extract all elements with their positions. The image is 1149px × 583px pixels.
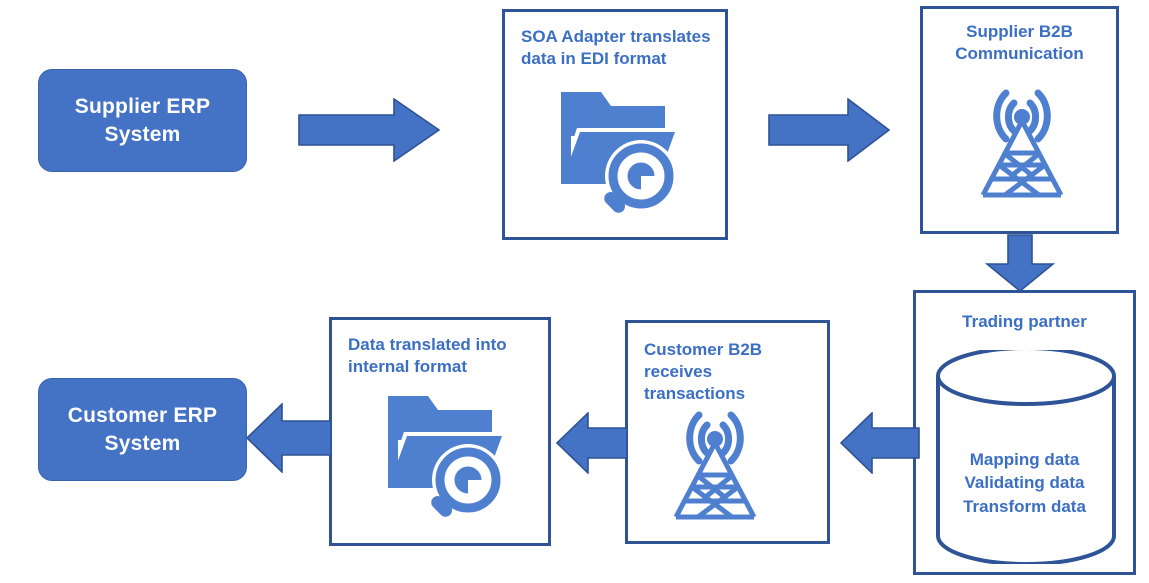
trading-partner-title: Trading partner xyxy=(916,311,1133,333)
trading-partner-item-validating: Validating data xyxy=(916,471,1133,494)
supplier-erp-line2: System xyxy=(75,121,210,149)
customer-erp-line1: Customer ERP xyxy=(68,402,217,430)
soa-adapter-title: SOA Adapter translates data in EDI forma… xyxy=(505,26,725,70)
customer-b2b-line1: Customer B2B xyxy=(644,339,817,361)
node-supplier-erp-system[interactable]: Supplier ERP System xyxy=(38,69,247,172)
soa-adapter-line2: data in EDI format xyxy=(521,48,715,70)
trading-partner-items: Mapping data Validating data Transform d… xyxy=(916,448,1133,518)
arrow-trading-partner-to-customer-b2b xyxy=(840,412,920,474)
folder-search-icon xyxy=(547,84,687,224)
node-trading-partner[interactable]: Trading partner Mapping data Validating … xyxy=(913,290,1136,575)
customer-b2b-line2: receives transactions xyxy=(644,361,817,405)
trading-partner-item-transform: Transform data xyxy=(916,495,1133,518)
supplier-erp-line1: Supplier ERP xyxy=(75,93,210,121)
radio-tower-icon xyxy=(959,77,1085,203)
trading-partner-item-mapping: Mapping data xyxy=(916,448,1133,471)
node-soa-adapter[interactable]: SOA Adapter translates data in EDI forma… xyxy=(502,9,728,240)
supplier-b2b-title: Supplier B2B Communication xyxy=(923,21,1116,65)
supplier-b2b-line1: Supplier B2B xyxy=(933,21,1106,43)
supplier-b2b-line2: Communication xyxy=(933,43,1106,65)
arrow-supplier-b2b-to-trading-partner xyxy=(985,234,1055,292)
data-translated-line1: Data translated into xyxy=(348,334,538,356)
folder-search-icon xyxy=(374,388,514,528)
node-data-translated[interactable]: Data translated into internal format xyxy=(329,317,551,546)
arrow-soa-to-supplier-b2b xyxy=(768,98,890,162)
node-customer-erp-system[interactable]: Customer ERP System xyxy=(38,378,247,481)
arrow-supplier-erp-to-soa xyxy=(298,98,440,162)
data-translated-title: Data translated into internal format xyxy=(332,334,548,378)
arrow-customer-b2b-to-data-translated xyxy=(556,412,628,474)
arrow-data-translated-to-customer-erp xyxy=(246,403,332,473)
customer-erp-label: Customer ERP System xyxy=(68,402,217,457)
node-customer-b2b[interactable]: Customer B2B receives transactions xyxy=(625,320,830,544)
radio-tower-icon xyxy=(652,399,778,525)
soa-adapter-line1: SOA Adapter translates xyxy=(521,26,715,48)
diagram-canvas: Supplier ERP System SOA Adapter translat… xyxy=(0,0,1149,583)
node-supplier-b2b-communication[interactable]: Supplier B2B Communication xyxy=(920,6,1119,234)
customer-erp-line2: System xyxy=(68,430,217,458)
data-translated-line2: internal format xyxy=(348,356,538,378)
customer-b2b-title: Customer B2B receives transactions xyxy=(628,339,827,404)
supplier-erp-label: Supplier ERP System xyxy=(75,93,210,148)
